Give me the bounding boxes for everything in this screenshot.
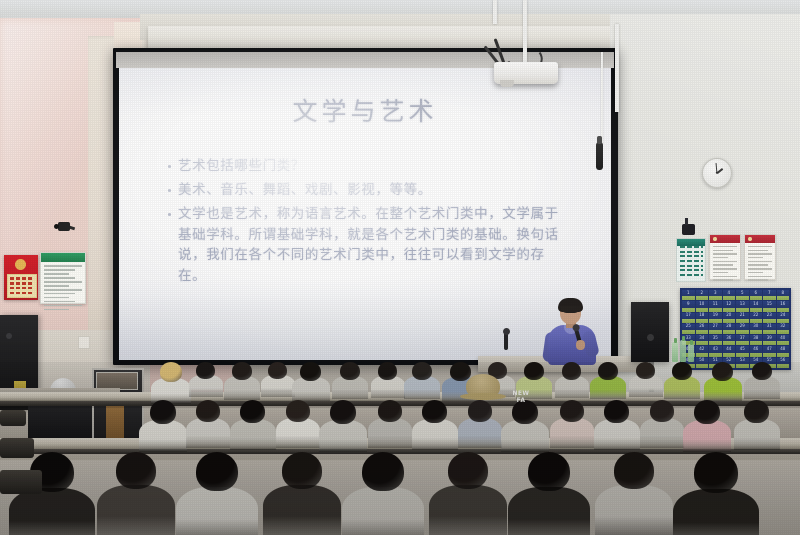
poster-header-band-red-2 <box>745 235 775 243</box>
khaki-bucket-hat <box>466 374 500 398</box>
audience-member-body <box>501 420 549 452</box>
audience-member-body <box>139 420 187 452</box>
audience-member-body <box>734 419 780 450</box>
audience-member-body <box>594 419 640 450</box>
audience-member-body <box>683 420 731 452</box>
audience-member-head <box>712 362 733 381</box>
audience-member-body <box>595 485 673 535</box>
audience-member-head <box>598 362 618 380</box>
pocket-slot[interactable]: 11 <box>709 301 722 311</box>
slide-bullet-2: 美术、音乐、舞蹈、戏剧、影视，等等。 <box>165 180 565 201</box>
audience-member-head <box>378 362 397 380</box>
audience-member-head <box>744 400 769 423</box>
pocket-slot[interactable]: 15 <box>763 301 776 311</box>
projection-screen: 文学与艺术 艺术包括哪些门类？ 美术、音乐、舞蹈、戏剧、影视，等等。 文学也是艺… <box>119 68 611 360</box>
audience-member-body <box>550 418 594 448</box>
pocket-slot[interactable]: 32 <box>777 324 790 334</box>
pocket-slot[interactable]: 10 <box>696 301 709 311</box>
seated-audience: NEW FA <box>0 352 800 535</box>
lecture-hall-photo: 文学与艺术 艺术包括哪些门类？ 美术、音乐、舞蹈、戏剧、影视，等等。 文学也是艺… <box>0 0 800 535</box>
audience-member-body <box>368 418 412 448</box>
audience-member-head <box>116 452 156 489</box>
audience-member-head <box>150 400 176 424</box>
screen-pull-cord[interactable] <box>601 52 603 144</box>
pocket-slot[interactable]: 16 <box>777 301 790 311</box>
white-notice-poster-2 <box>744 234 776 280</box>
audience-member-body <box>186 418 230 448</box>
pocket-slot[interactable]: 1 <box>682 290 695 300</box>
presenter-hair <box>558 298 583 312</box>
audience-member-head <box>448 452 488 489</box>
audience-member-body <box>176 487 258 535</box>
audience-member-body <box>263 485 341 535</box>
audience-member-head <box>232 362 252 380</box>
audience-member-head <box>196 452 238 491</box>
teal-notice-poster <box>676 238 706 282</box>
pocket-slot[interactable]: 40 <box>777 335 790 345</box>
ceiling-rod-right <box>615 24 619 112</box>
poster-text-block <box>7 274 37 298</box>
screen-pull-cord-handle[interactable] <box>596 142 603 170</box>
pocket-slot[interactable]: 35 <box>709 335 722 345</box>
pocket-slot[interactable]: 20 <box>723 313 736 323</box>
audience-member-head <box>340 362 360 380</box>
analog-wall-clock <box>702 158 732 188</box>
audience-member-head <box>468 400 492 422</box>
poster-logo-icon <box>15 259 26 270</box>
pocket-slot[interactable]: 4 <box>723 290 736 300</box>
audience-member-head <box>412 362 432 380</box>
audience-member-head <box>268 362 287 379</box>
audience-member-head <box>604 400 629 423</box>
pocket-slot[interactable]: 17 <box>682 313 695 323</box>
audience-member-head <box>362 452 404 491</box>
pocket-slot[interactable]: 2 <box>696 290 709 300</box>
audience-member-body <box>9 488 95 535</box>
pocket-slot[interactable]: 3 <box>709 290 722 300</box>
pocket-slot[interactable]: 26 <box>696 324 709 334</box>
wall-camera-icon <box>58 222 70 231</box>
pocket-slot[interactable]: 14 <box>750 301 763 311</box>
pocket-slot[interactable]: 28 <box>723 324 736 334</box>
pocket-slot[interactable]: 18 <box>696 313 709 323</box>
audience-member-head <box>286 400 310 422</box>
pocket-slot[interactable]: 21 <box>736 313 749 323</box>
white-notice-poster-1 <box>709 234 741 280</box>
audience-member-head <box>694 452 738 493</box>
poster-text-lines <box>44 265 82 313</box>
audience-member-body <box>342 487 424 535</box>
audience-member-body <box>319 420 367 452</box>
pocket-slot[interactable]: 7 <box>763 290 776 300</box>
audience-member-head <box>160 362 182 382</box>
pocket-slot[interactable]: 39 <box>763 335 776 345</box>
presenter-hand <box>576 340 585 350</box>
pocket-slot[interactable]: 31 <box>763 324 776 334</box>
seat-back <box>0 410 26 426</box>
slide-bullet-3: 文学也是艺术，称为语言艺术。在整个艺术门类中，文学属于基础学科。所谓基础学科，就… <box>165 204 565 286</box>
audience-member-body <box>429 485 507 535</box>
poster-header-band-red-1 <box>710 235 740 243</box>
pocket-slot[interactable]: 8 <box>777 290 790 300</box>
pocket-slot[interactable]: 9 <box>682 301 695 311</box>
audience-member-head <box>450 362 471 381</box>
microphone-on-stand <box>504 332 508 350</box>
pocket-slot[interactable]: 30 <box>750 324 763 334</box>
pocket-slot[interactable]: 22 <box>750 313 763 323</box>
wall-camera-icon-right <box>682 224 695 235</box>
poster-header-band <box>41 253 85 262</box>
audience-member-head <box>240 400 265 423</box>
slide-bullet-1: 艺术包括哪些门类？ <box>165 156 565 177</box>
audience-member-head <box>196 362 215 379</box>
red-safety-poster <box>4 255 38 300</box>
wall-switch-plate[interactable] <box>78 336 90 349</box>
projector-lens <box>500 80 514 87</box>
audience-member-head <box>672 362 692 380</box>
audience-member-body <box>458 418 502 448</box>
poster-text-lines-1 <box>713 246 737 283</box>
pocket-slot[interactable]: 29 <box>736 324 749 334</box>
pocket-slot[interactable]: 13 <box>736 301 749 311</box>
pocket-slot[interactable]: 24 <box>777 313 790 323</box>
audience-member-head <box>752 362 772 380</box>
audience-member-body <box>97 485 175 535</box>
audience-member-head <box>650 400 674 422</box>
pocket-slot[interactable]: 12 <box>723 301 736 311</box>
pocket-slot[interactable]: 34 <box>696 335 709 345</box>
audience-member-head <box>422 400 447 423</box>
ceiling-soffit <box>148 26 623 48</box>
audience-member-head <box>196 400 220 422</box>
audience-member-head <box>636 362 655 379</box>
audience-member-head <box>300 362 321 381</box>
pocket-slot[interactable]: 5 <box>736 290 749 300</box>
slide-title: 文学与艺术 <box>119 92 611 128</box>
slide-body: 艺术包括哪些门类？ 美术、音乐、舞蹈、戏剧、影视，等等。 文学也是艺术，称为语言… <box>165 156 565 289</box>
seat-back <box>0 438 34 458</box>
audience-member-body <box>640 418 684 448</box>
audience-member-body <box>412 419 458 450</box>
audience-member-head <box>562 362 581 380</box>
audience-member-head <box>378 400 402 422</box>
audience-member-head <box>524 362 544 380</box>
poster-text-lines-2 <box>748 246 772 283</box>
pocket-slot[interactable]: 27 <box>709 324 722 334</box>
audience-member-head <box>528 452 570 491</box>
audience-member-head <box>282 452 322 489</box>
audience-member-head <box>330 400 356 424</box>
poster-header-band-teal <box>677 239 705 246</box>
audience-member-body <box>230 419 276 450</box>
shirt-print-text: NEW FA <box>506 390 536 404</box>
green-notice-poster <box>40 252 86 304</box>
pocket-slot[interactable]: 23 <box>763 313 776 323</box>
presentation-slide: 文学与艺术 艺术包括哪些门类？ 美术、音乐、舞蹈、戏剧、影视，等等。 文学也是艺… <box>119 68 611 360</box>
pocket-slot[interactable]: 36 <box>723 335 736 345</box>
audience-member-body <box>508 487 590 535</box>
audience-member-head <box>560 400 584 422</box>
audience-member-head <box>694 400 720 424</box>
audience-member-body <box>673 489 759 535</box>
seat-back <box>0 470 42 494</box>
pocket-slot[interactable]: 37 <box>736 335 749 345</box>
pocket-slot[interactable]: 25 <box>682 324 695 334</box>
pocket-slot[interactable]: 38 <box>750 335 763 345</box>
projector-mount-rod-secondary <box>493 0 497 24</box>
pocket-slot[interactable]: 19 <box>709 313 722 323</box>
audience-member-head <box>614 452 654 489</box>
pocket-slot[interactable]: 6 <box>750 290 763 300</box>
audience-member-body <box>276 418 320 448</box>
